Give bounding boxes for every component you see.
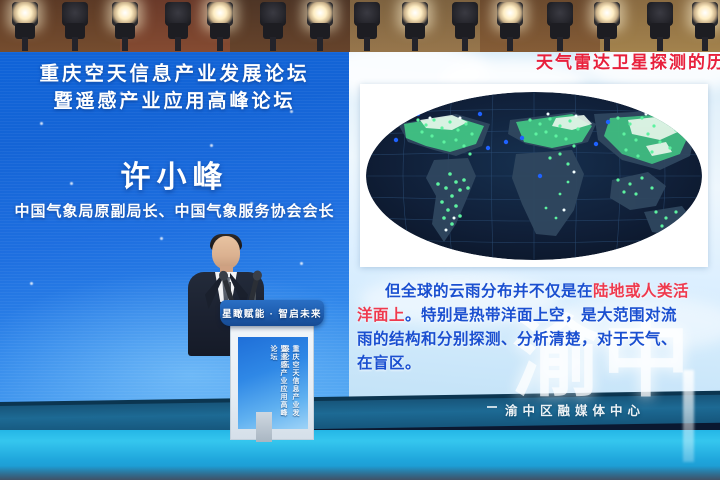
podium: 重庆空天信息产业发展论坛 暨遥感产业应用高峰论坛 星瞰赋能 · 智启未来: [220, 300, 324, 440]
stage-lamp-icon: [258, 2, 288, 54]
speaker-head: [212, 236, 240, 269]
screenshot-root: 重庆空天信息产业发展论坛 暨遥感产业应用高峰论坛 许小峰 中国气象局原副局长、中…: [0, 0, 720, 480]
banner-headline-line2: 暨遥感产业应用高峰论坛: [0, 88, 349, 116]
stage-lamp-icon: [495, 2, 525, 54]
slide-text-plain: 。特别是热带洋面上空，是大范围对流: [405, 307, 677, 324]
slide-text-highlight: 洋面上: [357, 307, 405, 324]
slide-body-line-3: 雨的结构和分别探测、分析清楚，对于天气、: [349, 328, 720, 352]
slide-body-line-2: 洋面上。特别是热带洋面上空，是大范围对流: [349, 304, 720, 328]
stage-lamp-icon: [690, 2, 720, 54]
stage-floor: [0, 430, 720, 480]
led-video-wall: 重庆空天信息产业发展论坛 暨遥感产业应用高峰论坛 许小峰 中国气象局原副局长、中…: [0, 52, 720, 420]
stage-lamp-icon: [205, 2, 235, 54]
slide-text-plain: 在盲区。: [357, 355, 421, 372]
stage-lamp-icon: [545, 2, 575, 54]
stage-lamp-icon: [450, 2, 480, 54]
light-reflection: [683, 370, 694, 462]
stage-lamp-icon: [163, 2, 193, 54]
podium-slogan-plate: 星瞰赋能 · 智启未来: [220, 300, 324, 326]
stage-lamp-icon: [352, 2, 382, 54]
stage-lamp-icon: [400, 2, 430, 54]
world-radar-map: [360, 84, 708, 267]
slide-body-line-4: 在盲区。: [349, 352, 720, 376]
slide-body-line-1: 但全球的云雨分布并不仅是在陆地或人类活: [349, 280, 720, 304]
stage-lamp-icon: [110, 2, 140, 54]
presentation-slide: 天气雷达卫星探测的历: [349, 52, 720, 420]
slide-text-plain: 雨的结构和分别探测、分析清楚，对于天气、: [357, 331, 677, 348]
podium-slogan-text: 星瞰赋能 · 智启未来: [222, 306, 322, 320]
stage-lamp-icon: [592, 2, 622, 54]
slide-title: 天气雷达卫星探测的历: [536, 52, 720, 73]
world-map-svg: [360, 84, 708, 267]
slide-text-plain: 但全球的云雨分布并不仅是在: [385, 283, 593, 300]
slide-text-highlight: 陆地或人类活: [593, 283, 689, 300]
watermark-dash: [487, 406, 497, 408]
podium-screen: 重庆空天信息产业发展论坛 暨遥感产业应用高峰论坛: [238, 337, 308, 429]
podium-body: 重庆空天信息产业发展论坛 暨遥感产业应用高峰论坛: [230, 324, 314, 440]
stage-lamp-icon: [645, 2, 675, 54]
broadcaster-watermark: 渝中区融媒体中心: [505, 400, 645, 419]
stage-lamp-icon: [305, 2, 335, 54]
podium-post: [256, 412, 272, 442]
banner-headline: 重庆空天信息产业发展论坛 暨遥感产业应用高峰论坛: [0, 52, 349, 116]
banner-headline-line1: 重庆空天信息产业发展论坛: [0, 60, 349, 88]
slide-body-text: 但全球的云雨分布并不仅是在陆地或人类活 洋面上。特别是热带洋面上空，是大范围对流…: [349, 280, 720, 376]
speaker-name: 许小峰: [0, 152, 349, 196]
stage-lamp-icon: [10, 2, 40, 54]
speaker-role: 中国气象局原副局长、中国气象服务协会会长: [0, 200, 349, 221]
stage-lamp-icon: [60, 2, 90, 54]
